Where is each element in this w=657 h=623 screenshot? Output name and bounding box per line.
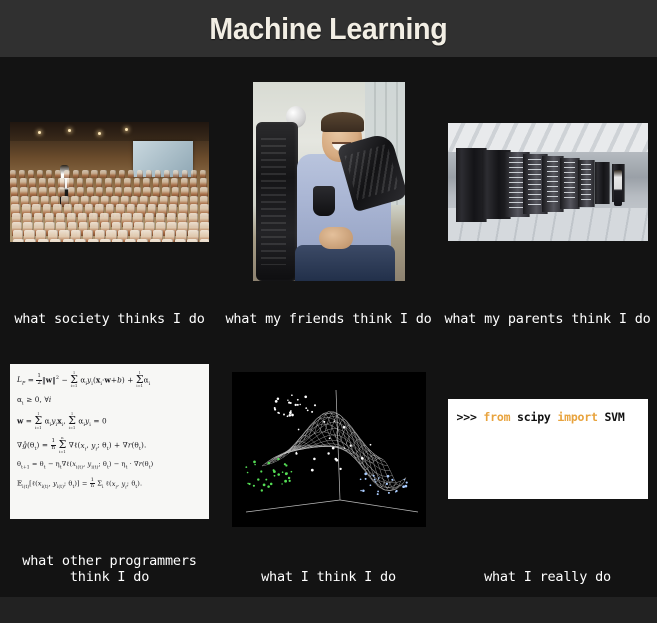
scatter-point xyxy=(386,474,389,477)
lecture-hall-seat xyxy=(38,239,49,241)
equation-line: w = lΣi=1 αiyixi, lΣi=1 αiyi = 0 xyxy=(17,413,202,430)
scatter-point xyxy=(247,482,249,484)
scatter-point xyxy=(359,478,361,480)
scatter-point xyxy=(260,489,262,491)
scatter-point xyxy=(272,469,274,471)
scatter-point xyxy=(373,478,375,480)
server-rack xyxy=(456,148,486,221)
lecture-hall-seat xyxy=(50,239,61,241)
scatter-point xyxy=(295,452,297,454)
photo-lecture-hall xyxy=(10,122,209,242)
scatter-point xyxy=(405,481,407,483)
panel-society-caption: what society thinks I do xyxy=(0,310,219,334)
scatter-point xyxy=(360,457,363,460)
man-jeans xyxy=(295,245,395,281)
scatter-point xyxy=(328,437,330,439)
scatter-point xyxy=(296,403,298,405)
lecture-hall-seat xyxy=(110,170,116,178)
scatter-point xyxy=(252,484,254,486)
lecture-hall-seat xyxy=(46,170,52,178)
console-token-import: import xyxy=(557,410,604,424)
scatter-point xyxy=(262,483,265,486)
lecture-hall-seat xyxy=(112,239,123,241)
scatter-point xyxy=(395,489,397,491)
scatter-point xyxy=(306,409,308,411)
lecture-hall-seat xyxy=(28,170,34,178)
scatter-point xyxy=(296,398,298,400)
scatter-point xyxy=(253,460,256,463)
panel-i-really-do-caption: what I really do xyxy=(438,568,657,596)
scatter-point xyxy=(283,413,285,415)
lecture-hall-seat xyxy=(88,239,99,241)
scatter-point xyxy=(323,420,325,422)
scatter-point xyxy=(305,407,307,409)
lecture-hall-seat xyxy=(55,170,61,178)
robot-arm xyxy=(256,122,299,281)
server-rack xyxy=(578,160,595,207)
panel-parents-media xyxy=(438,57,657,310)
console-token-scipy: scipy xyxy=(517,410,557,424)
scatter-point xyxy=(284,472,287,475)
man-clasped-hands xyxy=(319,227,353,249)
console-token-svm: SVM xyxy=(604,410,624,424)
panel-society-media xyxy=(0,57,219,310)
lecture-hall-seat xyxy=(155,170,161,178)
panel-friends-media xyxy=(219,57,438,310)
panel-other-programmers: LP = 12‖w‖2 − lΣi=1 αiyi(xi·w+b) + lΣi=1… xyxy=(0,334,219,596)
lecture-hall-seat xyxy=(125,239,136,241)
header-band: Machine Learning xyxy=(0,0,657,57)
panel-other-programmers-media: LP = 12‖w‖2 − lΣi=1 αiyi(xi·w+b) + lΣi=1… xyxy=(0,334,219,552)
lecture-hall-seat xyxy=(100,170,106,178)
console-token-from: from xyxy=(483,410,517,424)
panel-i-really-do: >>> from scipy import SVM what I really … xyxy=(438,334,657,596)
scatter-point xyxy=(364,477,366,479)
scatter-point xyxy=(281,471,283,473)
panel-friends-caption: what my friends think I do xyxy=(219,310,438,334)
panel-i-think-media xyxy=(219,334,438,568)
scatter-point xyxy=(391,478,393,480)
scatter-point xyxy=(294,403,296,405)
scatter-point xyxy=(277,411,279,413)
lecture-hall-seat xyxy=(150,239,161,241)
scatter-point xyxy=(377,477,379,479)
scatter-point xyxy=(269,482,272,485)
scatter-point xyxy=(297,428,299,430)
scatter-point xyxy=(287,476,289,478)
man-hair xyxy=(321,112,364,132)
scatter-point xyxy=(339,467,341,469)
scatter-point xyxy=(283,463,285,465)
panel-other-programmers-caption: what other programmers think I do xyxy=(0,552,219,596)
scatter-point xyxy=(281,483,282,484)
panel-i-think-caption: what I think I do xyxy=(219,568,438,596)
equation-line: αi ≥ 0, ∀i xyxy=(17,396,202,407)
scatter-point xyxy=(372,474,374,476)
scatter-point xyxy=(385,482,387,484)
scatter-point xyxy=(334,457,337,460)
equation-line: ∇ĝ(θt) = 1n nΣi=1 ∇ℓ(xi, yi; θt) + ∇r(θt… xyxy=(17,437,202,454)
scatter-point xyxy=(288,479,290,481)
lecture-hall-seat xyxy=(191,170,197,178)
scatter-point xyxy=(327,452,329,454)
lecture-hall-seat xyxy=(182,170,188,178)
scatter-point xyxy=(257,478,259,480)
lecture-hall-seat xyxy=(175,239,186,241)
scatter-point xyxy=(254,463,255,464)
lecture-hall-seat xyxy=(91,170,97,178)
scatter-point xyxy=(342,426,345,429)
scatter-point xyxy=(274,408,276,410)
scatter-point xyxy=(287,399,288,400)
lecture-hall-seat xyxy=(64,170,70,178)
scatter-point xyxy=(246,471,248,473)
scatter-point xyxy=(377,490,379,492)
panel-i-think: what I think I do xyxy=(219,334,438,596)
page-title: Machine Learning xyxy=(209,11,447,47)
lecture-hall-seat xyxy=(128,170,134,178)
lecture-hall-seat xyxy=(75,239,86,241)
scatter-point xyxy=(291,394,293,396)
lecture-hall-seat xyxy=(37,170,43,178)
lecture-hall-seat xyxy=(200,170,206,178)
equation-line: LP = 12‖w‖2 − lΣi=1 αiyi(xi·w+b) + lΣi=1… xyxy=(17,372,202,389)
scatter-point xyxy=(299,403,300,404)
scatter-point xyxy=(276,397,279,400)
scatter-point xyxy=(369,484,371,486)
lecture-hall-seat xyxy=(82,170,88,178)
scatter-point xyxy=(286,415,288,417)
panel-i-really-do-media: >>> from scipy import SVM xyxy=(438,334,657,568)
scatter-point xyxy=(274,400,277,403)
meme-image: Machine Learning xyxy=(0,0,657,623)
scatter-point xyxy=(313,457,316,460)
lecture-hall-seat xyxy=(100,239,111,241)
scatter-point xyxy=(245,466,247,468)
scatter-point xyxy=(273,474,275,476)
scatter-point xyxy=(313,404,315,406)
lecture-hall-seat xyxy=(137,170,143,178)
server-rack xyxy=(560,158,579,209)
mesh-plot-svg xyxy=(232,372,426,527)
scatter-point xyxy=(310,468,313,471)
panel-parents-caption: what my parents think I do xyxy=(438,310,657,334)
scatter-point xyxy=(364,472,367,475)
scatter-point xyxy=(333,420,334,421)
console-line: >>> from scipy import SVM xyxy=(457,410,639,424)
panel-row-bottom: LP = 12‖w‖2 − lΣi=1 αiyi(xi·w+b) + lΣi=1… xyxy=(0,334,657,596)
photo-robot-hug xyxy=(253,82,405,281)
scatter-point xyxy=(284,479,287,482)
scatter-point xyxy=(331,446,334,449)
scatter-point xyxy=(349,444,351,446)
equation-line: 𝔼i(t)[ℓ(xi(t), yi(t); θt)] = 1n Σi ℓ(xi,… xyxy=(17,478,202,491)
panel-parents: what my parents think I do xyxy=(438,57,657,334)
lecture-hall-seat xyxy=(25,239,36,241)
scatter-point xyxy=(277,457,279,459)
scatter-point xyxy=(288,401,290,403)
scatter-point xyxy=(374,481,375,482)
lecture-hall-seat xyxy=(137,239,148,241)
lecture-hall-seat xyxy=(19,170,25,178)
scatter-point xyxy=(260,470,262,472)
scatter-point xyxy=(267,485,270,488)
equation-line: θt+1 = θt − ηt∇ℓ(xi(t), yi(t); θt) − ηt … xyxy=(17,461,202,471)
scatter-point xyxy=(404,484,407,487)
scatter-point xyxy=(277,473,280,476)
datacenter-technician xyxy=(614,170,622,206)
scatter-point xyxy=(311,410,313,412)
mesh-plot-3d xyxy=(232,372,426,527)
server-rack xyxy=(595,162,609,204)
scatter-point xyxy=(290,470,292,472)
footer-band xyxy=(0,597,657,623)
lecture-hall-seat xyxy=(187,239,198,241)
scatter-point xyxy=(369,443,371,445)
scatter-point xyxy=(403,478,404,479)
panel-row-top: what society thinks I do xyxy=(0,57,657,334)
lecture-hall-audience xyxy=(10,122,209,242)
lecture-hall-seat xyxy=(10,170,16,178)
robot-fingers xyxy=(313,186,335,216)
scatter-point xyxy=(360,489,361,490)
scatter-point xyxy=(304,395,307,398)
lecture-hall-seat xyxy=(164,170,170,178)
scatter-point xyxy=(291,413,294,416)
scatter-point xyxy=(289,411,292,414)
lecture-hall-seat xyxy=(13,239,24,241)
lecture-hall-seat xyxy=(200,239,209,241)
scatter-point xyxy=(288,414,291,417)
scatter-point xyxy=(387,491,389,493)
equations-sheet: LP = 12‖w‖2 − lΣi=1 αiyi(xi·w+b) + lΣi=1… xyxy=(10,364,209,519)
lecture-hall-seat xyxy=(173,170,179,178)
lecture-hall-seat xyxy=(146,170,152,178)
lecture-hall-seat xyxy=(73,170,79,178)
panel-grid: what society thinks I do xyxy=(0,57,657,597)
scatter-point xyxy=(265,478,267,480)
panel-society: what society thinks I do xyxy=(0,57,219,334)
scatter-point xyxy=(343,447,345,449)
photo-supercomputer xyxy=(448,123,648,241)
scatter-point xyxy=(376,493,378,495)
scatter-point xyxy=(402,485,405,488)
panel-friends: what my friends think I do xyxy=(219,57,438,334)
scatter-point xyxy=(362,489,365,492)
python-console: >>> from scipy import SVM xyxy=(448,399,648,499)
lecture-hall-seat xyxy=(119,170,125,178)
console-prompt: >>> xyxy=(457,410,484,424)
lecture-hall-seat xyxy=(162,239,173,241)
lecture-hall-seat xyxy=(63,239,74,241)
scatter-point xyxy=(267,461,270,464)
